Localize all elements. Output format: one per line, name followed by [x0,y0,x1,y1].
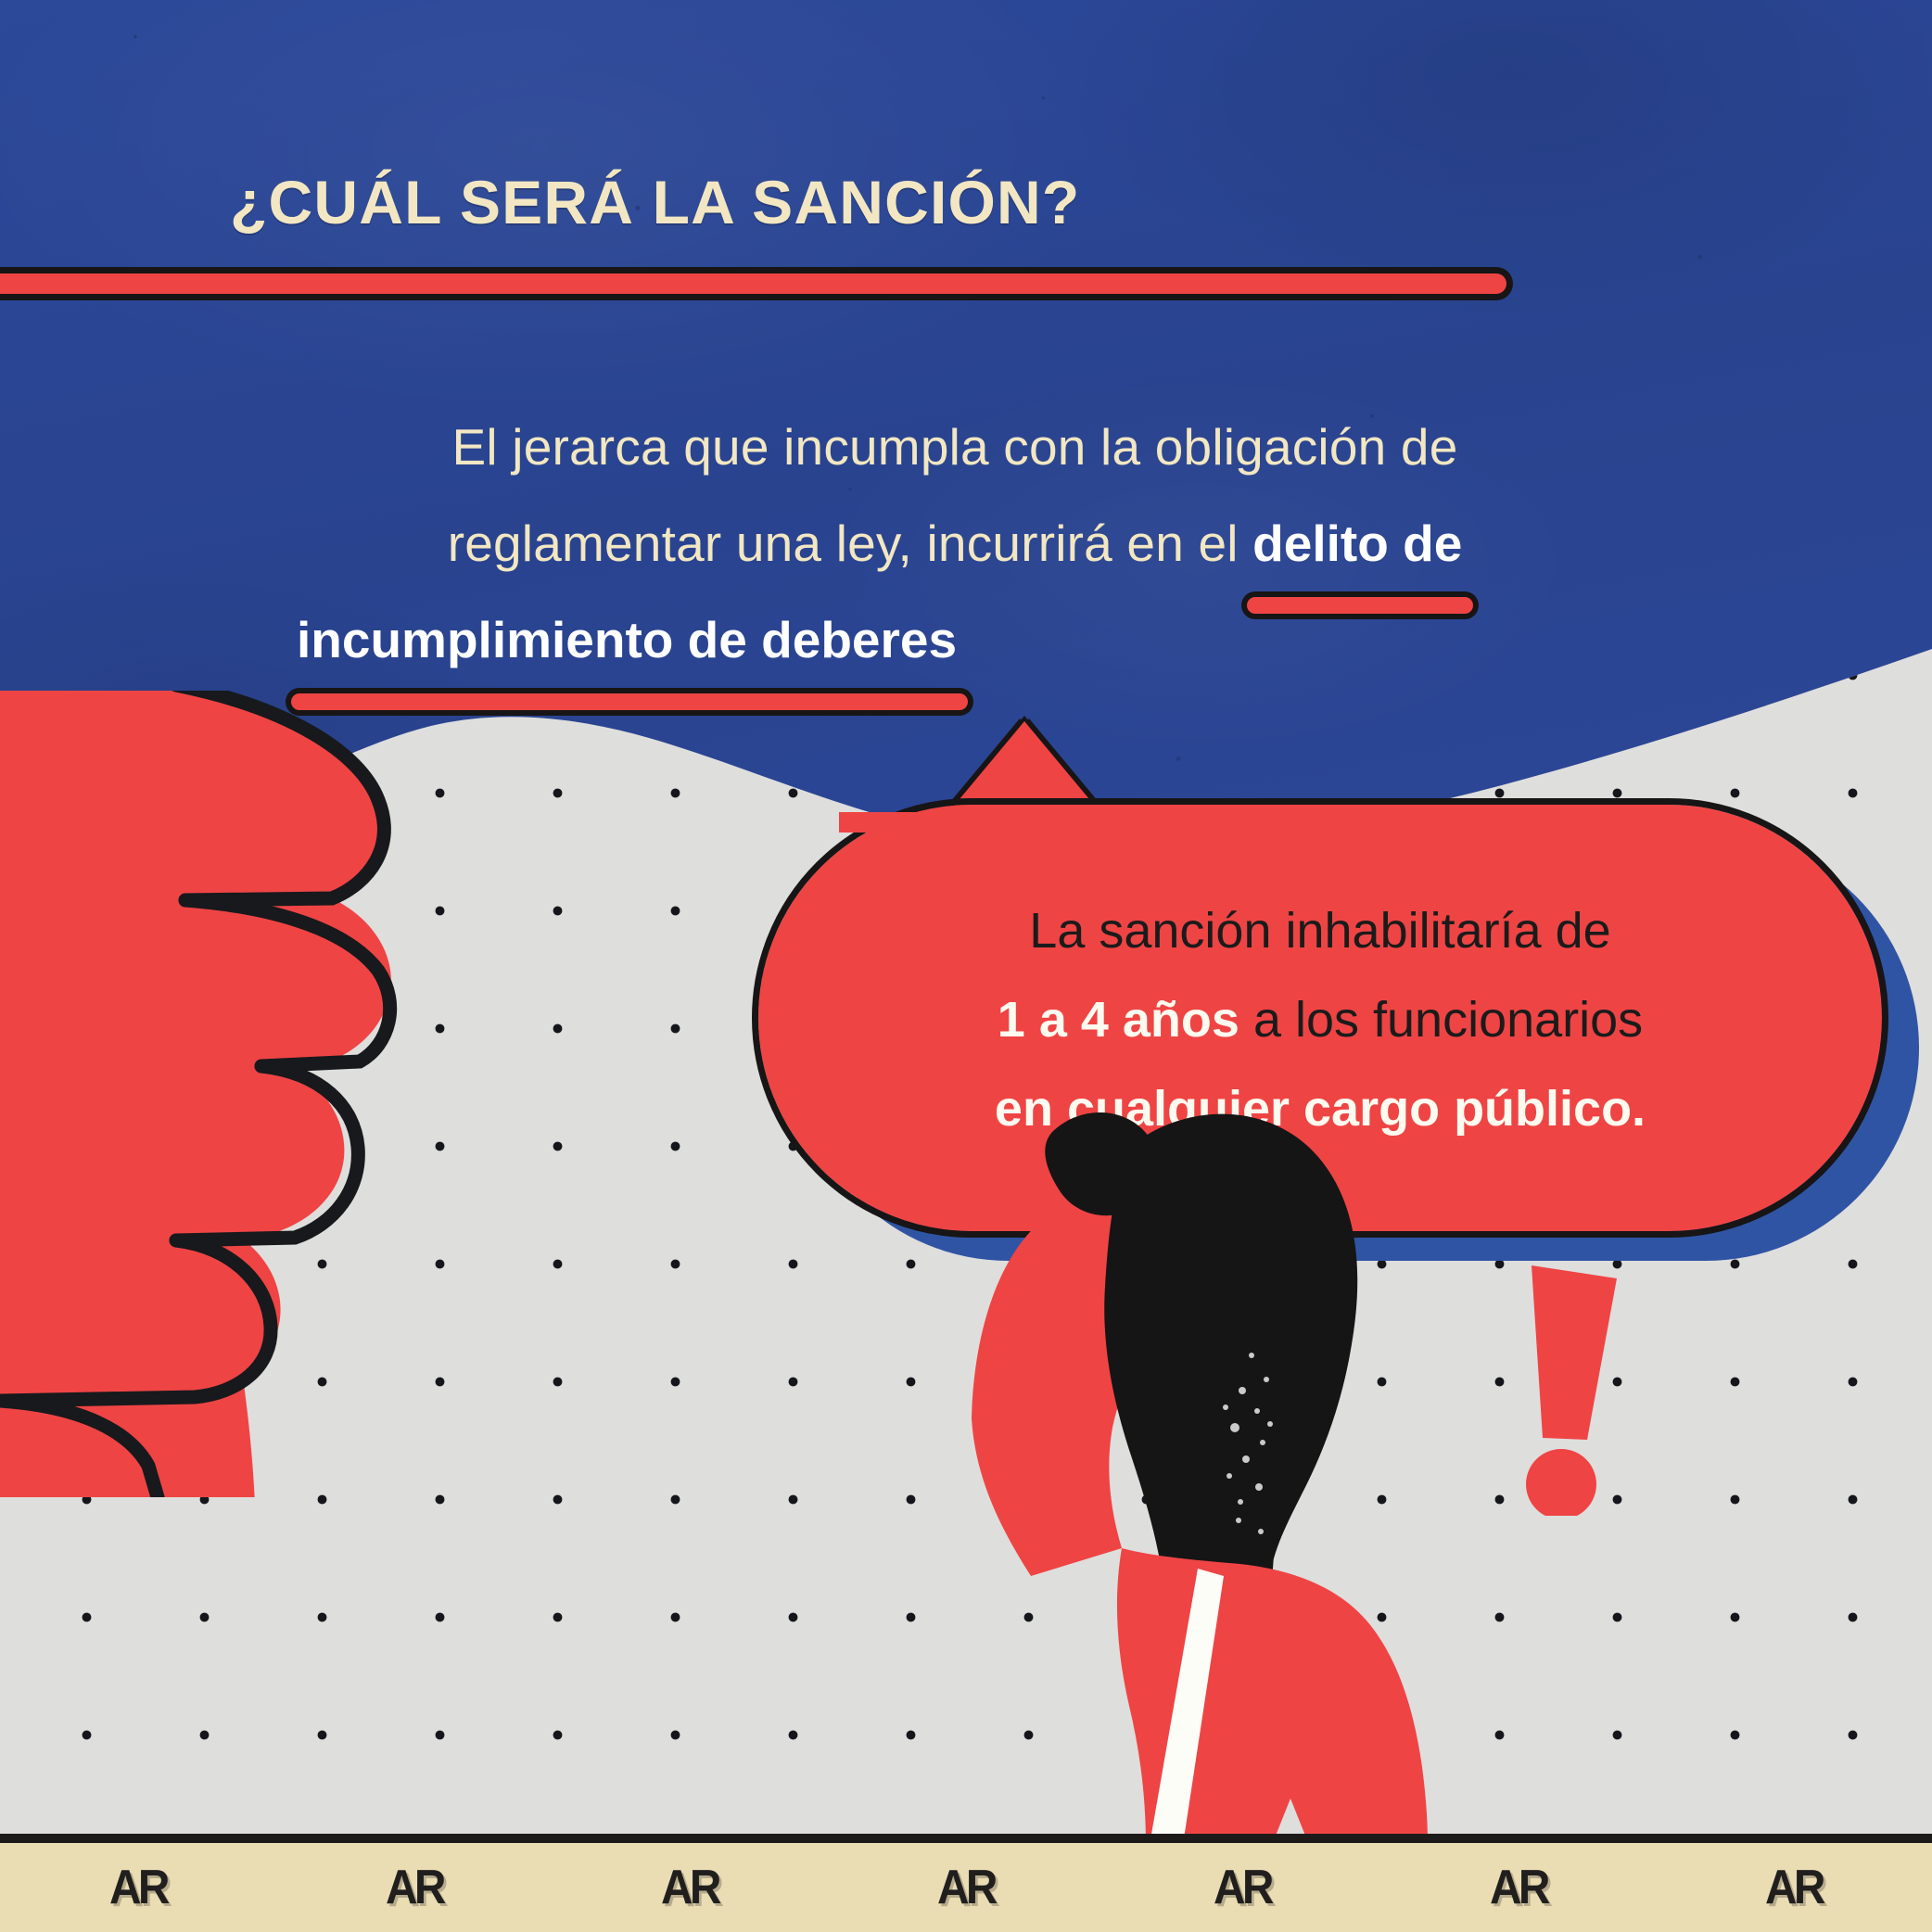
title-underline-bar [0,273,1506,294]
speech-bubble-tail-seam [839,812,1136,833]
paragraph-line-1: El jerarca que incumpla con la obligació… [297,399,1613,495]
footer-brand-mark: AR [1392,1860,1646,1915]
footer-brand-mark: AR [1667,1860,1921,1915]
thumbs-down-icon [0,691,621,1497]
bubble-line-2: 1 a 4 años a los funcionarios [998,975,1643,1064]
intro-paragraph: El jerarca que incumpla con la obligació… [297,399,1613,688]
bubble-line-1: La sanción inhabilitaría de [1029,886,1610,975]
bubble-line-2-plain: a los funcionarios [1239,992,1643,1048]
paragraph-line-3-highlight: incumplimiento de deberes [297,591,957,688]
footer-brand-mark: AR [287,1860,541,1915]
footer-brand-mark: AR [1115,1860,1369,1915]
exclamation-mark-icon [1509,1256,1630,1516]
infographic-canvas: ¿CUÁL SERÁ LA SANCIÓN? El jerarca que in… [0,0,1932,1932]
paragraph-line-2-plain: reglamentar una ley, incurrirá en el [448,515,1252,572]
footer-brand-mark: AR [11,1860,265,1915]
bubble-line-2-highlight: 1 a 4 años [998,992,1239,1048]
page-title: ¿CUÁL SERÁ LA SANCIÓN? [230,172,1621,233]
footer-brand-mark: AR [839,1860,1093,1915]
worried-person-icon [964,1112,1483,1845]
paragraph-line-2-highlight: delito de [1252,495,1462,591]
paragraph-line-2: reglamentar una ley, incurrirá en el del… [297,495,1613,591]
footer-strip: AR AR AR AR AR AR AR [0,1834,1932,1932]
footer-brand-mark: AR [563,1860,817,1915]
